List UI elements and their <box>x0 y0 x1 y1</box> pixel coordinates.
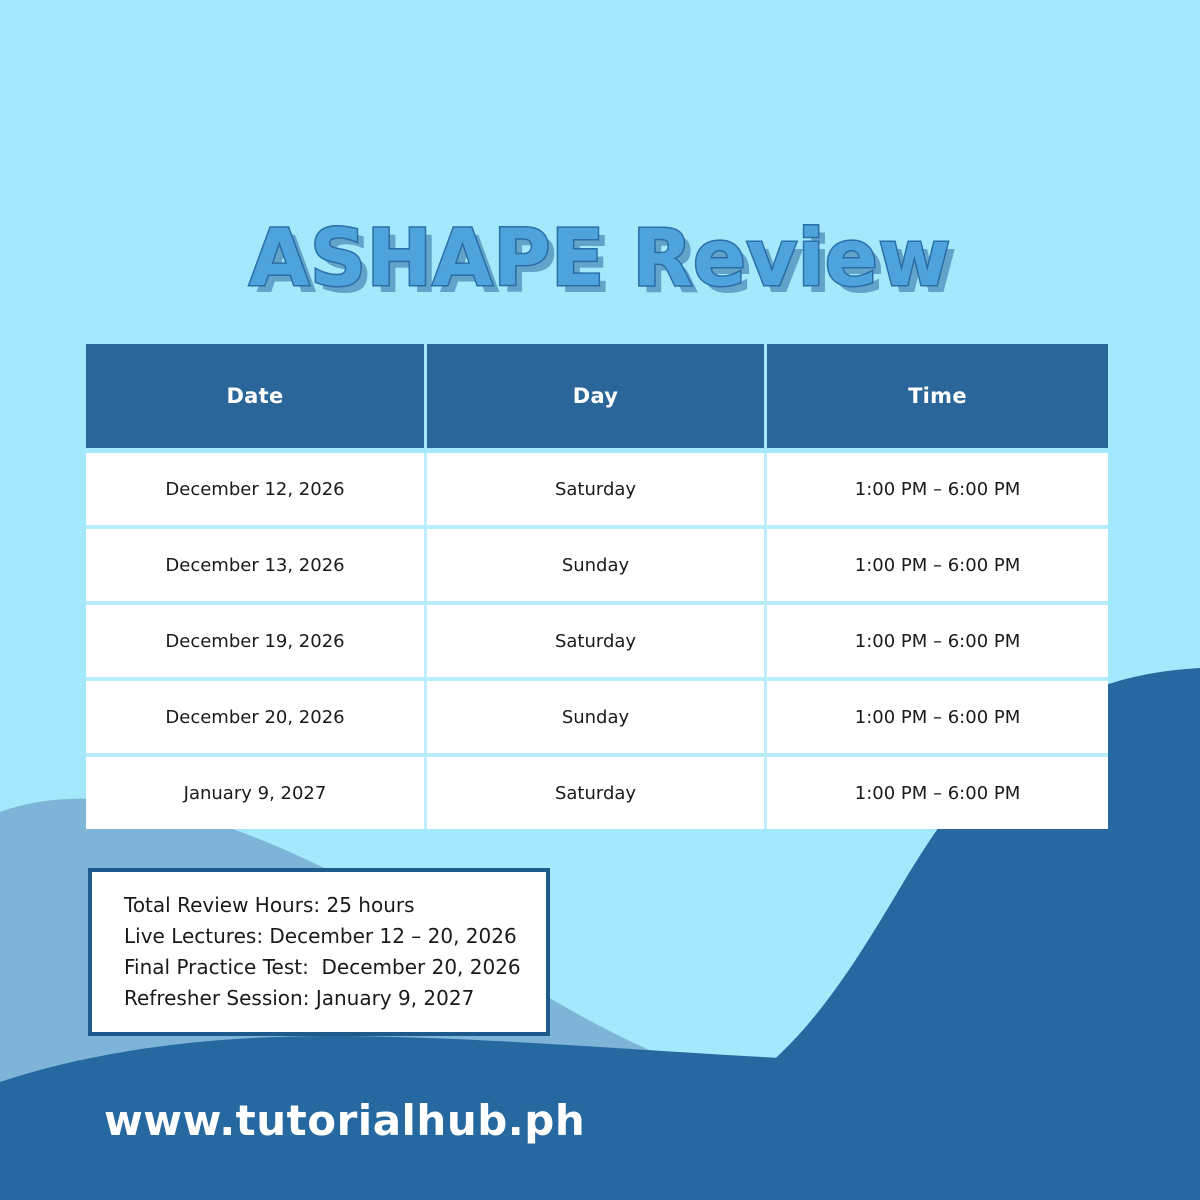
table-body: December 12, 2026 Saturday 1:00 PM – 6:0… <box>86 453 1108 829</box>
cell-day: Sunday <box>427 681 767 757</box>
table-header-row: Date Day Time <box>86 344 1108 453</box>
cell-time-text: 1:00 PM – 6:00 PM <box>767 707 1108 728</box>
cell-date-text: December 13, 2026 <box>86 555 424 576</box>
info-line-refresher-session: Refresher Session: January 9, 2027 <box>124 983 524 1014</box>
cell-date: December 12, 2026 <box>86 453 427 529</box>
cell-day: Saturday <box>427 453 767 529</box>
cell-time: 1:00 PM – 6:00 PM <box>767 757 1108 829</box>
cell-day-text: Saturday <box>427 479 764 500</box>
cell-date-text: December 12, 2026 <box>86 479 424 500</box>
cell-date-text: December 20, 2026 <box>86 707 424 728</box>
cell-day: Saturday <box>427 757 767 829</box>
table-row: December 19, 2026 Saturday 1:00 PM – 6:0… <box>86 605 1108 681</box>
cell-time: 1:00 PM – 6:00 PM <box>767 453 1108 529</box>
cell-date: December 19, 2026 <box>86 605 427 681</box>
cell-date-text: January 9, 2027 <box>86 783 424 804</box>
footer-website-url[interactable]: www.tutorialhub.ph <box>104 1096 585 1145</box>
cell-day-text: Sunday <box>427 707 764 728</box>
summary-info-box: Total Review Hours: 25 hours Live Lectur… <box>88 868 550 1036</box>
column-header-day: Day <box>427 344 767 453</box>
column-header-date: Date <box>86 344 427 453</box>
column-header-time: Time <box>767 344 1108 453</box>
cell-date: December 20, 2026 <box>86 681 427 757</box>
cell-time-text: 1:00 PM – 6:00 PM <box>767 555 1108 576</box>
cell-date-text: December 19, 2026 <box>86 631 424 652</box>
poster-canvas: ASHAPE Review Date Day Time December 12,… <box>0 0 1200 1200</box>
cell-time-text: 1:00 PM – 6:00 PM <box>767 783 1108 804</box>
cell-time: 1:00 PM – 6:00 PM <box>767 605 1108 681</box>
cell-day: Sunday <box>427 529 767 605</box>
table-header: Date Day Time <box>86 344 1108 453</box>
cell-time-text: 1:00 PM – 6:00 PM <box>767 631 1108 652</box>
cell-day-text: Saturday <box>427 631 764 652</box>
title-container: ASHAPE Review <box>0 168 1200 351</box>
cell-date: December 13, 2026 <box>86 529 427 605</box>
cell-day: Saturday <box>427 605 767 681</box>
cell-date: January 9, 2027 <box>86 757 427 829</box>
cell-time: 1:00 PM – 6:00 PM <box>767 529 1108 605</box>
table-row: December 13, 2026 Sunday 1:00 PM – 6:00 … <box>86 529 1108 605</box>
cell-time-text: 1:00 PM – 6:00 PM <box>767 479 1108 500</box>
table-row: January 9, 2027 Saturday 1:00 PM – 6:00 … <box>86 757 1108 829</box>
info-line-final-practice-test: Final Practice Test: December 20, 2026 <box>124 952 524 983</box>
cell-day-text: Saturday <box>427 783 764 804</box>
table-row: December 12, 2026 Saturday 1:00 PM – 6:0… <box>86 453 1108 529</box>
schedule-table: Date Day Time December 12, 2026 Saturday… <box>86 344 1108 829</box>
page-title: ASHAPE Review <box>249 220 951 298</box>
table-row: December 20, 2026 Sunday 1:00 PM – 6:00 … <box>86 681 1108 757</box>
info-line-total-hours: Total Review Hours: 25 hours <box>124 890 524 921</box>
cell-time: 1:00 PM – 6:00 PM <box>767 681 1108 757</box>
info-line-live-lectures: Live Lectures: December 12 – 20, 2026 <box>124 921 524 952</box>
cell-day-text: Sunday <box>427 555 764 576</box>
